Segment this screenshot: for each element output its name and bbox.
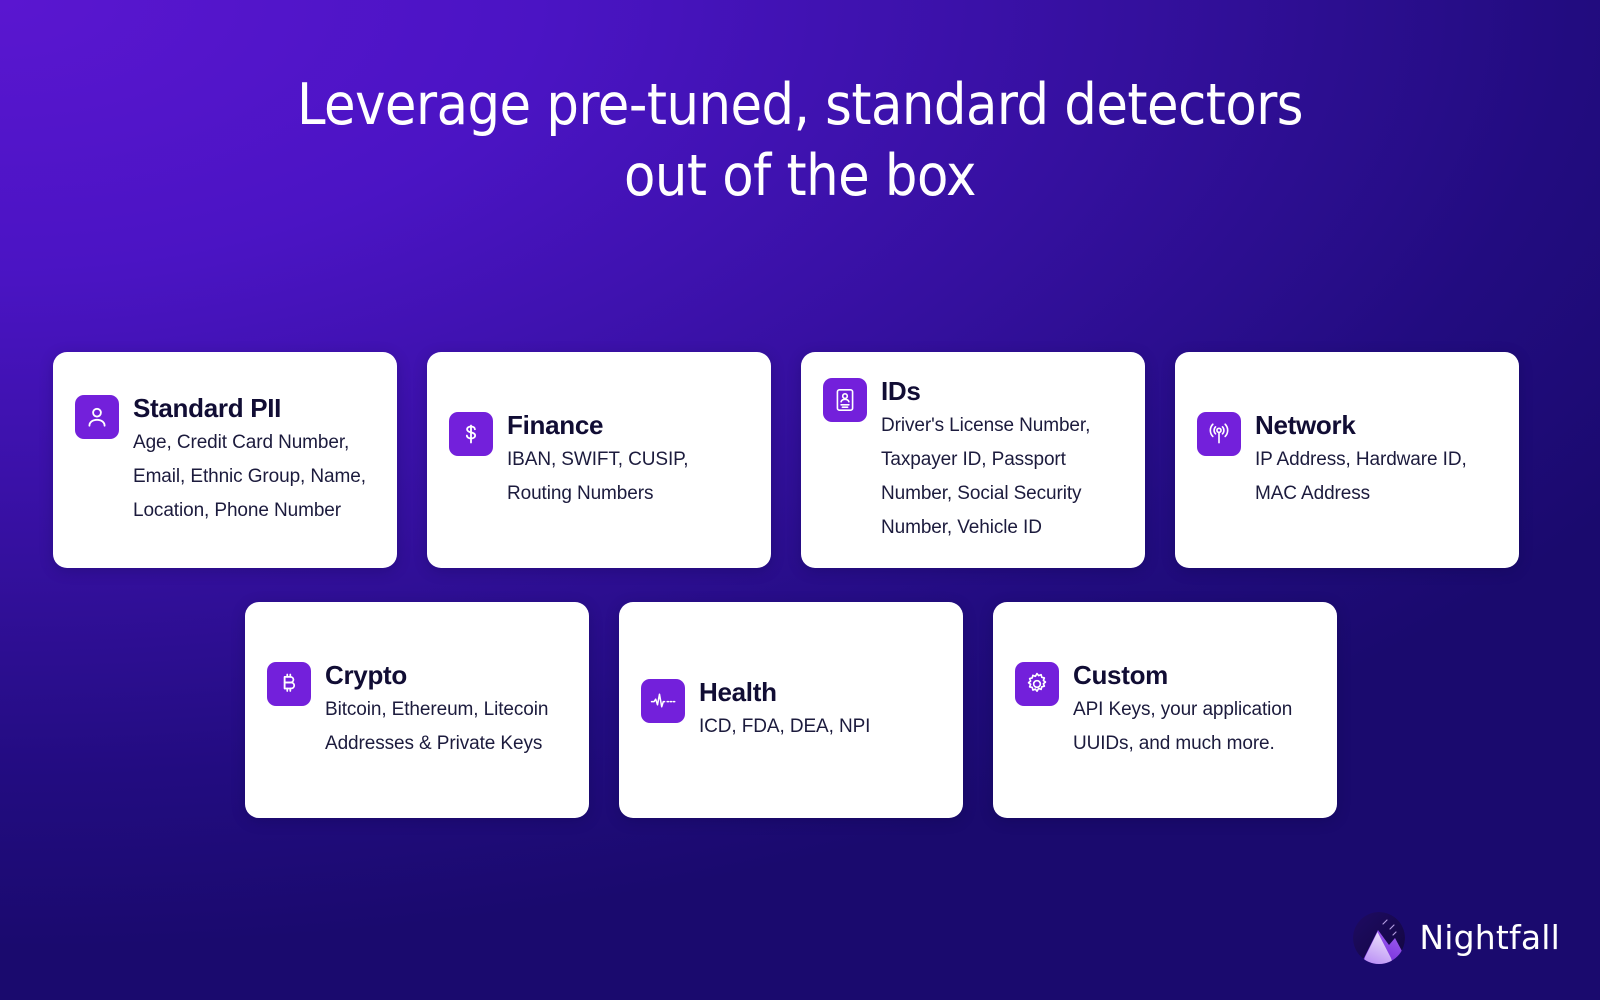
- card-text: Finance IBAN, SWIFT, CUSIP, Routing Numb…: [507, 409, 749, 511]
- broadcast-antenna-icon: [1197, 412, 1241, 456]
- card-text: Network IP Address, Hardware ID, MAC Add…: [1255, 409, 1497, 511]
- detector-card-network[interactable]: Network IP Address, Hardware ID, MAC Add…: [1175, 352, 1519, 568]
- bitcoin-icon: [267, 662, 311, 706]
- id-card-icon: [823, 378, 867, 422]
- card-content: Network IP Address, Hardware ID, MAC Add…: [1197, 409, 1497, 511]
- person-icon: [75, 395, 119, 439]
- page-title: Leverage pre-tuned, standard detectors o…: [120, 70, 1480, 212]
- card-title: Finance: [507, 409, 749, 441]
- card-content: Standard PII Age, Credit Card Number, Em…: [75, 392, 375, 528]
- card-content: Crypto Bitcoin, Ethereum, Litecoin Addre…: [267, 659, 567, 761]
- slide-canvas: Leverage pre-tuned, standard detectors o…: [0, 0, 1600, 1000]
- detector-card-row-1: Standard PII Age, Credit Card Number, Em…: [53, 352, 1519, 568]
- card-content: IDs Driver's License Number, Taxpayer ID…: [823, 375, 1123, 545]
- detector-card-custom[interactable]: Custom API Keys, your application UUIDs,…: [993, 602, 1337, 818]
- brand-logo: Nightfall: [1353, 912, 1560, 964]
- detector-card-crypto[interactable]: Crypto Bitcoin, Ethereum, Litecoin Addre…: [245, 602, 589, 818]
- card-title: Network: [1255, 409, 1497, 441]
- detector-card-ids[interactable]: IDs Driver's License Number, Taxpayer ID…: [801, 352, 1145, 568]
- title-block: Leverage pre-tuned, standard detectors o…: [0, 70, 1600, 212]
- card-text: IDs Driver's License Number, Taxpayer ID…: [881, 375, 1123, 545]
- card-description: IP Address, Hardware ID, MAC Address: [1255, 443, 1497, 511]
- card-description: Age, Credit Card Number, Email, Ethnic G…: [133, 426, 375, 528]
- detector-card-finance[interactable]: Finance IBAN, SWIFT, CUSIP, Routing Numb…: [427, 352, 771, 568]
- card-text: Standard PII Age, Credit Card Number, Em…: [133, 392, 375, 528]
- card-content: Finance IBAN, SWIFT, CUSIP, Routing Numb…: [449, 409, 749, 511]
- card-text: Crypto Bitcoin, Ethereum, Litecoin Addre…: [325, 659, 567, 761]
- gear-icon: [1015, 662, 1059, 706]
- nightfall-mountain-logo-icon: [1353, 912, 1405, 964]
- card-text: Health ICD, FDA, DEA, NPI: [699, 676, 941, 744]
- dollar-sign-icon: [449, 412, 493, 456]
- card-description: API Keys, your application UUIDs, and mu…: [1073, 693, 1315, 761]
- detector-card-standard-pii[interactable]: Standard PII Age, Credit Card Number, Em…: [53, 352, 397, 568]
- card-description: Driver's License Number, Taxpayer ID, Pa…: [881, 409, 1123, 545]
- card-title: Health: [699, 676, 941, 708]
- card-title: Standard PII: [133, 392, 375, 424]
- card-description: Bitcoin, Ethereum, Litecoin Addresses & …: [325, 693, 567, 761]
- card-title: Crypto: [325, 659, 567, 691]
- card-title: Custom: [1073, 659, 1315, 691]
- detector-card-row-2: Crypto Bitcoin, Ethereum, Litecoin Addre…: [245, 602, 1337, 818]
- heartbeat-pulse-icon: [641, 679, 685, 723]
- detector-card-health[interactable]: Health ICD, FDA, DEA, NPI: [619, 602, 963, 818]
- card-text: Custom API Keys, your application UUIDs,…: [1073, 659, 1315, 761]
- card-description: IBAN, SWIFT, CUSIP, Routing Numbers: [507, 443, 749, 511]
- card-content: Custom API Keys, your application UUIDs,…: [1015, 659, 1315, 761]
- card-title: IDs: [881, 375, 1123, 407]
- card-content: Health ICD, FDA, DEA, NPI: [641, 676, 941, 744]
- brand-wordmark: Nightfall: [1419, 920, 1560, 956]
- card-description: ICD, FDA, DEA, NPI: [699, 710, 941, 744]
